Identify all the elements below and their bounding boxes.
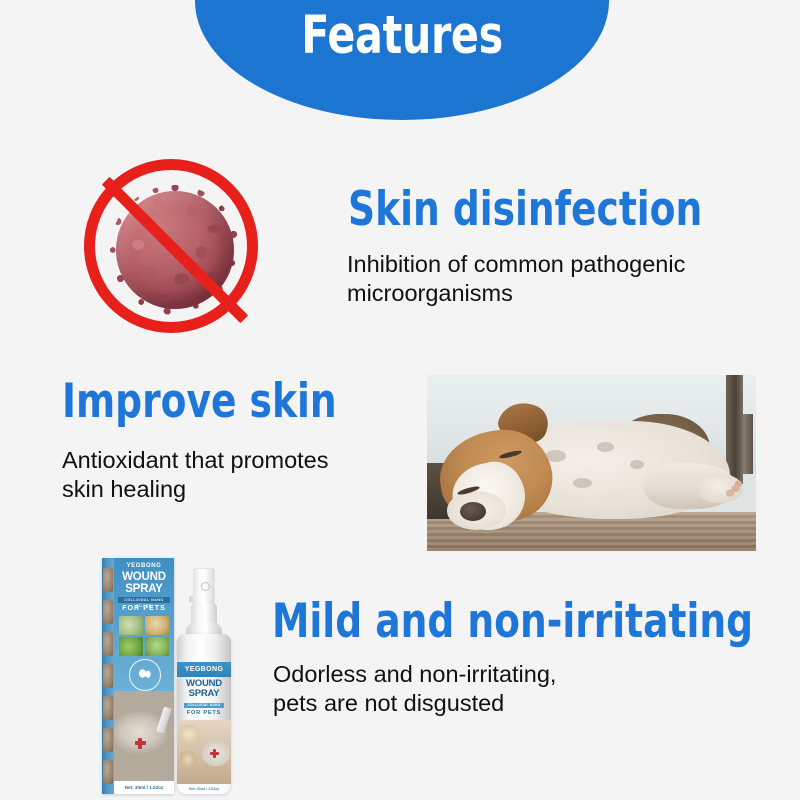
- ingredient-thumb-herb: [145, 616, 169, 635]
- carton-photo-nozzle: [156, 707, 172, 734]
- bottle-audience-label: FOR PETS: [177, 710, 231, 716]
- feature-description-mild-non-irritating: Odorless and non-irritating, pets are no…: [273, 660, 556, 717]
- photo-dog-nose: [460, 502, 486, 521]
- carton-side-thumb: [103, 728, 113, 752]
- photo-dog-spot: [573, 478, 592, 488]
- carton-brand-label: YEGBONG: [114, 563, 174, 569]
- feature-infographic-page: Features Skin disinfection Inhibition of…: [0, 0, 800, 800]
- photo-post-secondary: [743, 414, 753, 474]
- carton-side-thumb: [103, 632, 113, 656]
- germ-prohibited-icon: [80, 155, 270, 345]
- feature-heading-improve-skin: Improve skin: [62, 378, 337, 425]
- feature-description-improve-skin: Antioxidant that promotes skin healing: [62, 446, 329, 503]
- carton-side-thumb: [103, 664, 113, 688]
- photo-dog-spot: [630, 460, 644, 469]
- carton-side-thumb: [103, 600, 113, 624]
- feature-description-skin-disinfection: Inhibition of common pathogenic microorg…: [347, 250, 685, 307]
- bottle-net-content-label: Net: 30ml / 1.02oz: [177, 784, 231, 794]
- bottle-pet-photo: [177, 720, 231, 784]
- carton-side-thumb: [103, 568, 113, 592]
- carton-subtitle-label: COLLOIDAL NANO SILVER: [118, 597, 170, 603]
- bottle-body: YEGBONG WOUND SPRAY COLLOIDAL NANO SILVE…: [177, 634, 231, 794]
- carton-paw-photo: [114, 691, 174, 781]
- carton-product-name-line1: WOUND: [114, 572, 174, 584]
- carton-ingredient-thumbnails: [119, 616, 169, 656]
- header-banner: Features: [195, 0, 609, 120]
- feature-heading-skin-disinfection: Skin disinfection: [348, 186, 702, 233]
- carton-side-panel: [102, 558, 114, 794]
- carton-pet-badge-icon: [129, 659, 161, 691]
- photo-dog-spot: [597, 442, 614, 452]
- carton-product-name: WOUND SPRAY: [114, 572, 174, 595]
- bottle-product-name: WOUND SPRAY: [177, 679, 231, 699]
- bottle-cap: [193, 568, 215, 606]
- carton-net-content-label: Net: 30ml / 1.02oz: [114, 781, 174, 794]
- bottle-subtitle-label: COLLOIDAL NANO SILVER: [184, 703, 224, 708]
- bottle-brand-label: YEGBONG: [177, 662, 231, 677]
- bottle-neck: [191, 604, 217, 624]
- carton-front-panel: YEGBONG WOUND SPRAY COLLOIDAL NANO SILVE…: [114, 558, 174, 794]
- feature-heading-mild-non-irritating: Mild and non-irritating: [272, 598, 753, 645]
- sleeping-dog-photo: [427, 375, 756, 551]
- bottle-product-name-line2: SPRAY: [177, 689, 231, 699]
- page-title: Features: [241, 9, 564, 62]
- photo-dog-paw: [697, 474, 743, 504]
- ingredient-thumb-aloe: [119, 616, 143, 635]
- carton-audience-label: FOR PETS: [114, 605, 174, 612]
- carton-side-thumb: [103, 696, 113, 720]
- product-package-photo: YEGBONG WOUND SPRAY COLLOIDAL NANO SILVE…: [96, 552, 246, 796]
- product-carton: YEGBONG WOUND SPRAY COLLOIDAL NANO SILVE…: [102, 558, 174, 794]
- carton-photo-wound-mark: [138, 738, 142, 749]
- bottle-cap-dot-icon: [201, 582, 210, 591]
- ingredient-thumb-plant: [145, 637, 169, 656]
- ingredient-thumb-leaf: [119, 637, 143, 656]
- carton-product-name-line2: SPRAY: [114, 584, 174, 596]
- bottle-photo-wound-mark: [213, 749, 216, 758]
- product-spray-bottle: YEGBONG WOUND SPRAY COLLOIDAL NANO SILVE…: [172, 568, 236, 796]
- carton-side-thumb: [103, 760, 113, 784]
